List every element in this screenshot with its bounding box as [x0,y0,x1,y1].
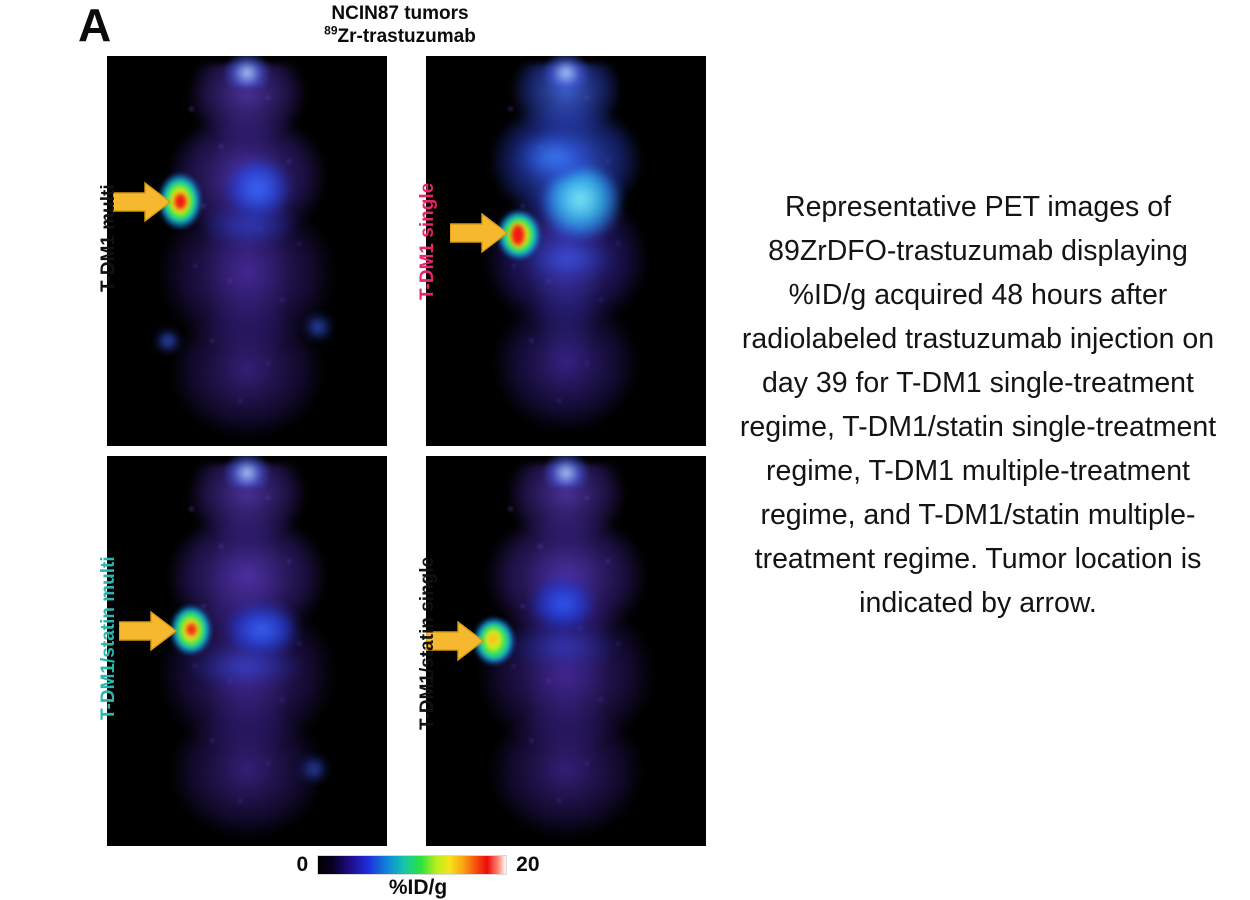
panel-label-t-dm1-statin-multi: T-DM1/statin multi [98,556,120,720]
panel-label-t-dm1-multi: T-DM1 multi [98,184,120,292]
pet-panel-t-dm1-statin-single[interactable] [426,456,706,846]
mouse-head-uptake [544,456,589,487]
mouse-head-uptake [225,456,270,487]
pet-panel-t-dm1-single[interactable] [426,56,706,446]
pet-panel-t-dm1-multi[interactable] [107,56,387,446]
figure-caption: Representative PET images of 89ZrDFO-tra… [728,185,1228,625]
isotope-superscript: 89 [324,24,337,38]
lower-abdomen-uptake [510,624,616,668]
lower-abdomen-uptake [191,646,301,686]
mouse-head-uptake [544,56,589,87]
pet-image-grid [107,56,720,846]
colorbar-unit-label: %ID/g [283,876,553,900]
heading-line-tracer: 89Zr-trastuzumab [250,25,550,48]
pet-panel-t-dm1-statin-multi[interactable] [107,456,387,846]
panel-label-t-dm1-statin-single: T-DM1/statin single [417,557,439,730]
lower-abdomen-uptake [203,206,295,246]
tumor-hotspot-core [511,224,525,246]
tracer-name: Zr-trastuzumab [338,26,476,47]
upper-chest-uptake [518,134,588,180]
colorbar-max-label: 20 [516,853,539,877]
mouse-head-uptake [225,56,270,87]
figure-heading: NCIN87 tumors 89Zr-trastuzumab [250,2,550,48]
panel-letter-a: A [78,2,110,48]
colorbar: 0 20 %ID/g [283,852,553,898]
colorbar-row: 0 20 [283,852,553,878]
mouse-noise-texture [160,64,334,438]
tumor-hotspot-core [174,193,187,210]
left-limb-spot [155,330,181,352]
right-limb-spot [303,314,333,340]
colorbar-min-label: 0 [296,853,308,877]
panel-label-t-dm1-single: T-DM1 single [417,183,439,300]
tumor-hotspot-core [186,623,197,636]
heading-line-tumors: NCIN87 tumors [250,2,550,25]
colorbar-gradient [317,855,507,875]
right-limb-spot [299,756,329,782]
organ-uptake-blob [532,578,594,630]
tumor-hotspot-core [488,633,498,645]
